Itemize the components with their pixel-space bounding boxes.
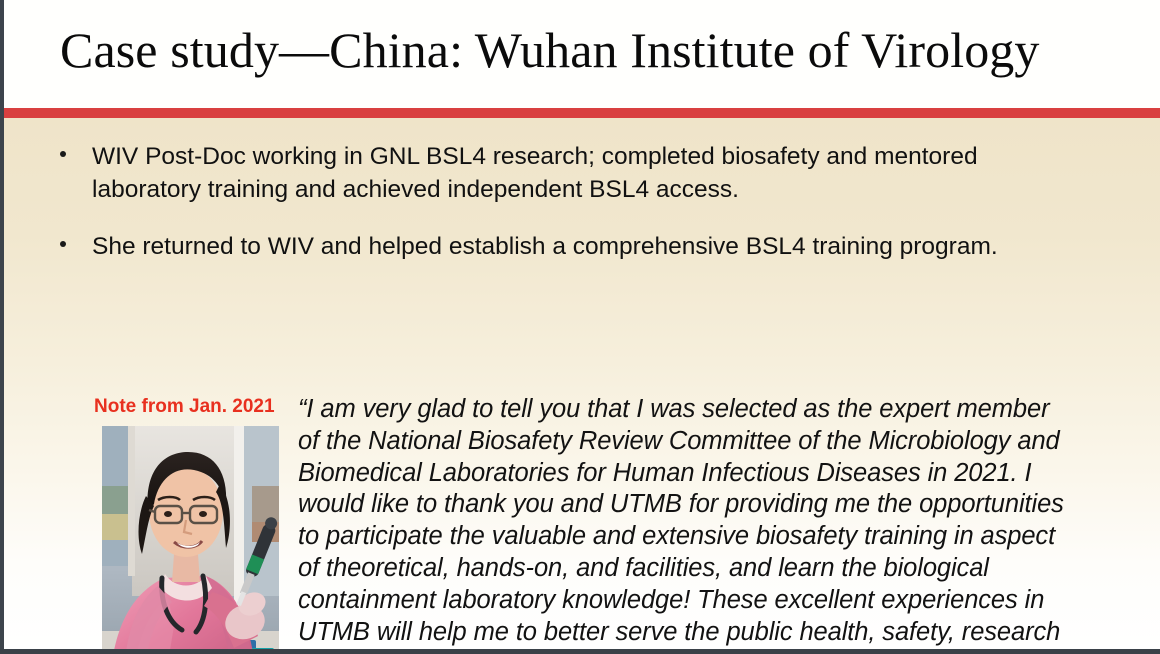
- bullet-text: She returned to WIV and helped establish…: [92, 230, 1074, 263]
- quote-line: of the National Biosafety Review Committ…: [298, 426, 1068, 458]
- page-title: Case study—China: Wuhan Institute of Vir…: [60, 19, 1140, 81]
- slide-bottom-edge: [0, 649, 1160, 654]
- note-label: Note from Jan. 2021: [94, 396, 275, 418]
- title-band: Case study—China: Wuhan Institute of Vir…: [0, 0, 1160, 108]
- quote-line: containment laboratory knowledge! These …: [298, 585, 1068, 617]
- slide-left-edge: [0, 0, 4, 654]
- slide: Case study—China: Wuhan Institute of Vir…: [0, 0, 1160, 654]
- slide-body: WIV Post-Doc working in GNL BSL4 researc…: [4, 118, 1160, 649]
- scientist-photo: [102, 426, 279, 654]
- quote-line: UTMB will help me to better serve the pu…: [298, 617, 1068, 649]
- bullet-dot-icon: [60, 151, 66, 157]
- quote-block: “I am very glad to tell you that I was s…: [298, 394, 1068, 654]
- quote-line: would like to thank you and UTMB for pro…: [298, 489, 1068, 521]
- list-item: She returned to WIV and helped establish…: [54, 230, 1074, 263]
- quote-line: Biomedical Laboratories for Human Infect…: [298, 458, 1068, 490]
- title-accent-rule: [4, 108, 1160, 118]
- bullet-list: WIV Post-Doc working in GNL BSL4 researc…: [54, 140, 1074, 287]
- list-item: WIV Post-Doc working in GNL BSL4 researc…: [54, 140, 1074, 206]
- quote-line: to participate the valuable and extensiv…: [298, 521, 1068, 553]
- quote-line: of theoretical, hands-on, and facilities…: [298, 553, 1068, 585]
- quote-line: “I am very glad to tell you that I was s…: [298, 394, 1068, 426]
- bullet-dot-icon: [60, 241, 66, 247]
- bullet-text: WIV Post-Doc working in GNL BSL4 researc…: [92, 140, 1074, 206]
